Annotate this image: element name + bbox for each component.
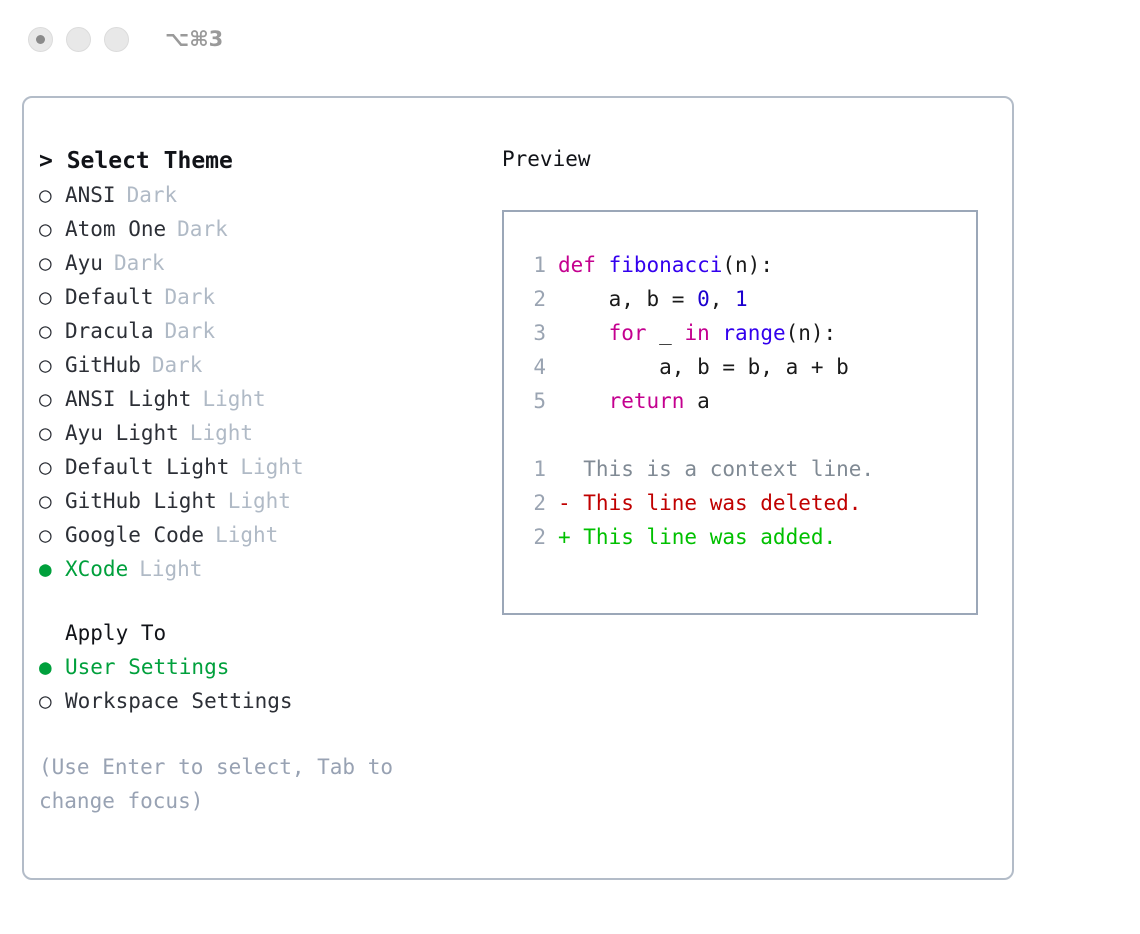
- diff-line-token: This is a context line.: [558, 452, 874, 486]
- code-line-1: 2 a, b = 0, 1: [520, 282, 976, 316]
- theme-option-badge: Light: [139, 552, 202, 586]
- theme-option-badge: Light: [215, 518, 278, 552]
- theme-option-4[interactable]: ○DraculaDark: [39, 314, 479, 348]
- diff-line-number: 2: [520, 520, 546, 554]
- code-line-token: a, b =: [558, 282, 697, 316]
- code-line-token: in: [684, 316, 709, 350]
- code-line-token: [710, 316, 723, 350]
- diff-sample: 1 This is a context line.2- This line wa…: [520, 452, 976, 554]
- record-indicator-dot[interactable]: [28, 27, 53, 52]
- diff-line-number: 2: [520, 486, 546, 520]
- diff-line-0: 1 This is a context line.: [520, 452, 976, 486]
- theme-picker-dialog: > Select Theme ○ANSIDark○Atom OneDark○Ay…: [22, 96, 1014, 880]
- radio-unselected-icon: ○: [39, 382, 65, 416]
- theme-option-badge: Light: [202, 382, 265, 416]
- diff-line-token: + This line was added.: [558, 520, 836, 554]
- code-line-token: [596, 248, 609, 282]
- code-blank-line: [520, 418, 976, 452]
- theme-option-3[interactable]: ○DefaultDark: [39, 280, 479, 314]
- code-line-token: 0: [697, 282, 710, 316]
- theme-option-10[interactable]: ○Google CodeLight: [39, 518, 479, 552]
- theme-list: ○ANSIDark○Atom OneDark○AyuDark○DefaultDa…: [39, 178, 479, 586]
- radio-selected-icon: ●: [39, 552, 65, 586]
- code-line-token: return: [609, 384, 685, 418]
- select-theme-heading: > Select Theme: [39, 144, 479, 178]
- radio-selected-icon: ●: [39, 650, 65, 684]
- theme-option-badge: Dark: [127, 178, 178, 212]
- theme-option-label: GitHub: [65, 348, 141, 382]
- code-line-token: (n):: [786, 316, 837, 350]
- code-line-4: 5 return a: [520, 384, 976, 418]
- code-line-token: [558, 316, 609, 350]
- theme-option-label: Google Code: [65, 518, 204, 552]
- apply-option-1[interactable]: ○Workspace Settings: [39, 684, 479, 718]
- diff-line-1: 2- This line was deleted.: [520, 486, 976, 520]
- theme-option-label: Ayu Light: [65, 416, 179, 450]
- theme-option-badge: Dark: [165, 280, 216, 314]
- app-root: ⌥⌘3 > Select Theme ○ANSIDark○Atom OneDar…: [0, 0, 1140, 934]
- code-line-2: 3 for _ in range(n):: [520, 316, 976, 350]
- theme-option-9[interactable]: ○GitHub LightLight: [39, 484, 479, 518]
- theme-option-label: Default: [65, 280, 154, 314]
- code-line-token: _: [647, 316, 685, 350]
- radio-unselected-icon: ○: [39, 280, 65, 314]
- diff-line-token: - This line was deleted.: [558, 486, 861, 520]
- radio-unselected-icon: ○: [39, 212, 65, 246]
- radio-unselected-icon: ○: [39, 348, 65, 382]
- record-dot-inner: [36, 35, 45, 44]
- code-line-token: range: [722, 316, 785, 350]
- theme-list-column: > Select Theme ○ANSIDark○Atom OneDark○Ay…: [39, 144, 479, 818]
- theme-option-11[interactable]: ●XCodeLight: [39, 552, 479, 586]
- theme-option-2[interactable]: ○AyuDark: [39, 246, 479, 280]
- preview-heading: Preview: [502, 144, 992, 174]
- theme-option-7[interactable]: ○Ayu LightLight: [39, 416, 479, 450]
- theme-option-badge: Dark: [165, 314, 216, 348]
- apply-to-list: ●User Settings○Workspace Settings: [39, 650, 479, 718]
- theme-option-5[interactable]: ○GitHubDark: [39, 348, 479, 382]
- theme-option-badge: Light: [228, 484, 291, 518]
- code-line-number: 2: [520, 282, 546, 316]
- code-line-token: fibonacci: [609, 248, 723, 282]
- keyboard-shortcut-label: ⌥⌘3: [165, 27, 223, 51]
- apply-option-label: User Settings: [65, 650, 229, 684]
- code-line-number: 3: [520, 316, 546, 350]
- theme-option-badge: Light: [240, 450, 303, 484]
- code-line-token: a, b = b, a + b: [558, 350, 849, 384]
- radio-unselected-icon: ○: [39, 684, 65, 718]
- theme-option-6[interactable]: ○ANSI LightLight: [39, 382, 479, 416]
- preview-column: Preview 1def fibonacci(n):2 a, b = 0, 13…: [502, 144, 992, 615]
- window-dot-3[interactable]: [104, 27, 129, 52]
- code-sample: 1def fibonacci(n):2 a, b = 0, 13 for _ i…: [520, 248, 976, 418]
- radio-unselected-icon: ○: [39, 518, 65, 552]
- theme-option-1[interactable]: ○Atom OneDark: [39, 212, 479, 246]
- code-line-0: 1def fibonacci(n):: [520, 248, 976, 282]
- theme-option-label: Atom One: [65, 212, 166, 246]
- radio-unselected-icon: ○: [39, 246, 65, 280]
- theme-option-label: Ayu: [65, 246, 103, 280]
- theme-option-0[interactable]: ○ANSIDark: [39, 178, 479, 212]
- theme-option-label: Default Light: [65, 450, 229, 484]
- code-line-token: a: [684, 384, 709, 418]
- radio-unselected-icon: ○: [39, 178, 65, 212]
- theme-option-badge: Dark: [152, 348, 203, 382]
- radio-unselected-icon: ○: [39, 416, 65, 450]
- code-line-number: 4: [520, 350, 546, 384]
- code-line-token: for: [609, 316, 647, 350]
- theme-option-label: XCode: [65, 552, 128, 586]
- apply-option-0[interactable]: ●User Settings: [39, 650, 479, 684]
- code-line-token: [558, 384, 609, 418]
- code-line-token: (n):: [722, 248, 773, 282]
- apply-option-label: Workspace Settings: [65, 684, 293, 718]
- theme-option-label: ANSI: [65, 178, 116, 212]
- window-dot-2[interactable]: [66, 27, 91, 52]
- window-titlebar: ⌥⌘3: [0, 0, 1140, 78]
- code-line-number: 1: [520, 248, 546, 282]
- preview-panel: 1def fibonacci(n):2 a, b = 0, 13 for _ i…: [502, 210, 978, 615]
- code-line-3: 4 a, b = b, a + b: [520, 350, 976, 384]
- theme-option-badge: Dark: [114, 246, 165, 280]
- window-controls: [28, 27, 129, 52]
- radio-unselected-icon: ○: [39, 484, 65, 518]
- theme-option-label: Dracula: [65, 314, 154, 348]
- keyboard-hint-text: (Use Enter to select, Tab to change focu…: [39, 750, 439, 818]
- radio-unselected-icon: ○: [39, 450, 65, 484]
- diff-line-2: 2+ This line was added.: [520, 520, 976, 554]
- theme-option-badge: Light: [190, 416, 253, 450]
- code-line-token: 1: [735, 282, 748, 316]
- list-spacer: [39, 586, 479, 616]
- code-line-token: def: [558, 248, 596, 282]
- diff-line-number: 1: [520, 452, 546, 486]
- theme-option-8[interactable]: ○Default LightLight: [39, 450, 479, 484]
- theme-option-badge: Dark: [177, 212, 228, 246]
- theme-option-label: ANSI Light: [65, 382, 191, 416]
- code-line-number: 5: [520, 384, 546, 418]
- code-line-token: ,: [710, 282, 735, 316]
- apply-to-heading: Apply To: [39, 616, 479, 650]
- radio-unselected-icon: ○: [39, 314, 65, 348]
- dialog-columns: > Select Theme ○ANSIDark○Atom OneDark○Ay…: [24, 98, 1012, 878]
- theme-option-label: GitHub Light: [65, 484, 217, 518]
